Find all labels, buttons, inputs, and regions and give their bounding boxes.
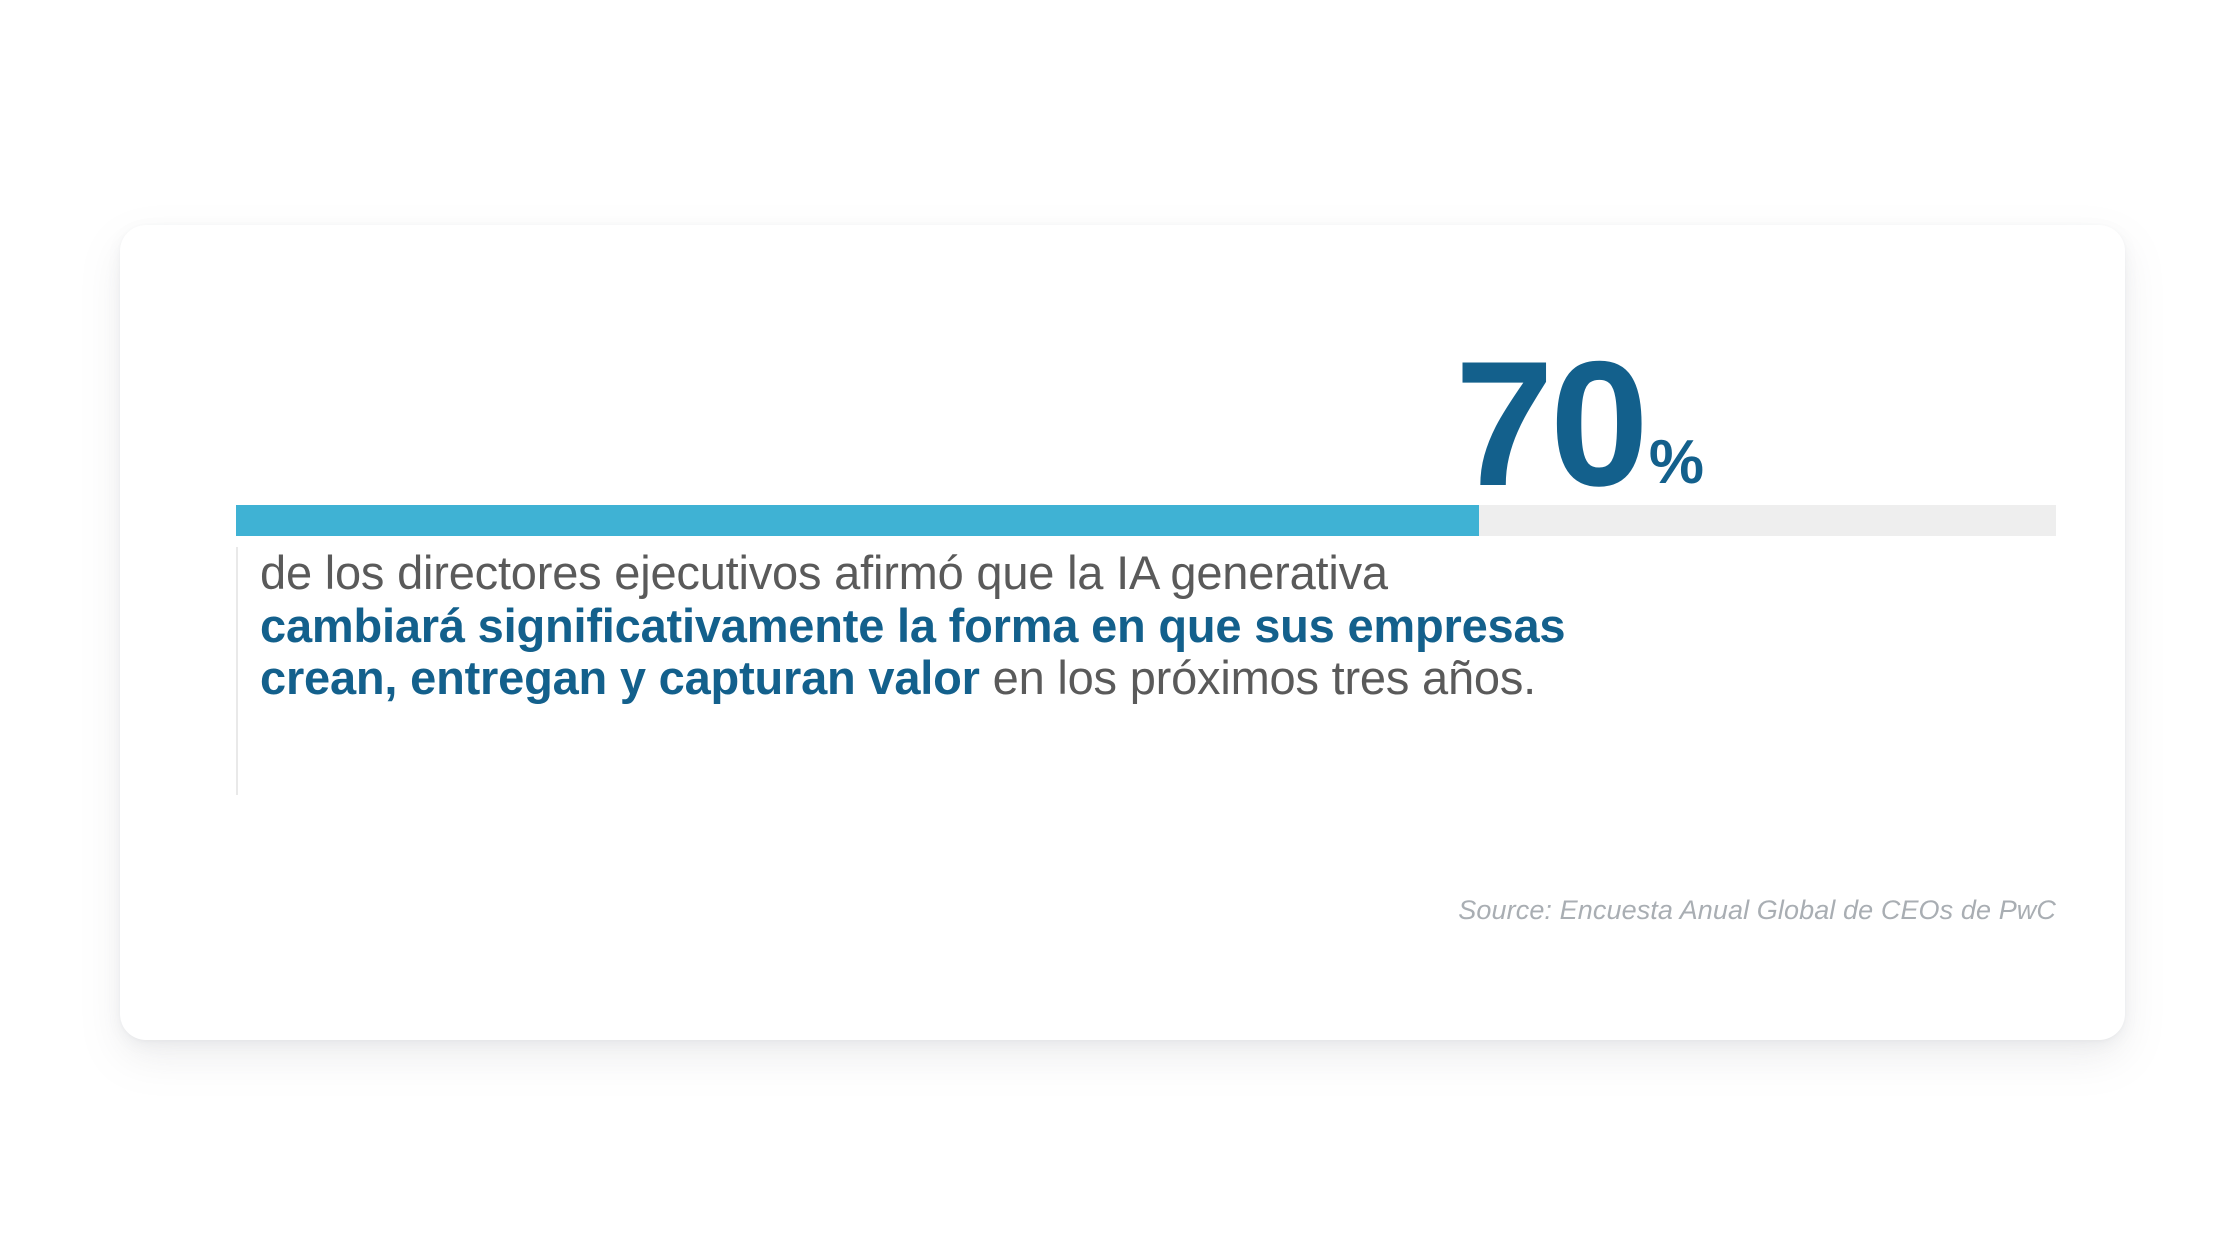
progress-bar-fill <box>236 505 1479 536</box>
statistic-card: 70 % de los directores ejecutivos afirmó… <box>120 225 2125 1040</box>
body-paragraph: de los directores ejecutivos afirmó que … <box>260 547 1596 705</box>
source-attribution: Source: Encuesta Anual Global de CEOs de… <box>236 895 2056 926</box>
body-segment-tail: en los próximos tres años. <box>980 651 1536 704</box>
card-inner: 70 % de los directores ejecutivos afirmó… <box>236 225 2056 1040</box>
body-segment-lead: de los directores ejecutivos afirmó que … <box>260 546 1388 599</box>
progress-bar-track <box>236 505 2056 536</box>
headline-figure: 70 % <box>236 280 1700 500</box>
statistic-unit-percent: % <box>1649 432 1704 494</box>
statistic-value: 70 <box>1455 347 1645 500</box>
body-text-block: de los directores ejecutivos afirmó que … <box>236 547 1596 795</box>
